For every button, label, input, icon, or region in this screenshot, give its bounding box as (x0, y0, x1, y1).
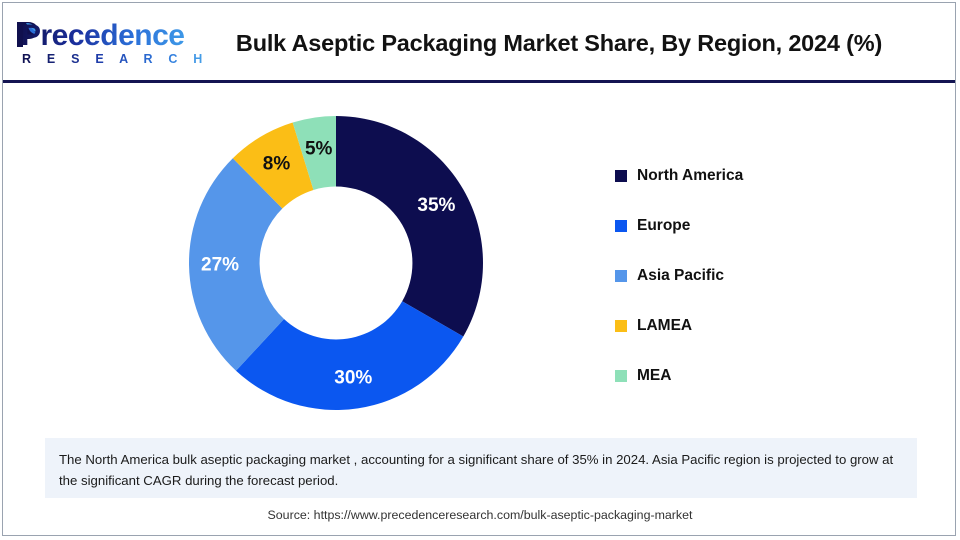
insight-note-box: The North America bulk aseptic packaging… (45, 438, 917, 498)
legend-swatch-icon (615, 320, 627, 332)
donut-slice-label: 5% (305, 138, 333, 159)
legend-swatch-icon (615, 220, 627, 232)
chart-body: 35%30%27%8%5% North AmericaEuropeAsia Pa… (3, 83, 955, 433)
legend-item-label: LAMEA (637, 317, 692, 335)
donut-slice-label: 35% (417, 195, 455, 216)
legend-item[interactable]: Europe (615, 201, 895, 251)
donut-slice-label: 8% (263, 153, 291, 174)
legend-item[interactable]: LAMEA (615, 301, 895, 351)
legend-swatch-icon (615, 370, 627, 382)
legend-item-label: Europe (637, 217, 690, 235)
legend-item[interactable]: MEA (615, 351, 895, 401)
donut-slice-label: 27% (201, 255, 239, 276)
source-line: Source: https://www.precedenceresearch.c… (3, 508, 957, 522)
logo-subtitle: R E S E A R C H (22, 52, 209, 66)
page-title: Bulk Aseptic Packaging Market Share, By … (189, 3, 929, 83)
precedence-research-logo: Precedence R E S E A R C H (15, 19, 175, 71)
donut-slice-label: 30% (334, 368, 372, 389)
legend-item[interactable]: Asia Pacific (615, 251, 895, 301)
logo-wordmark: Precedence (21, 19, 184, 53)
chart-card: Precedence R E S E A R C H Bulk Aseptic … (2, 2, 956, 536)
donut-chart-svg: 35%30%27%8%5% (189, 116, 483, 410)
legend: North AmericaEuropeAsia PacificLAMEAMEA (615, 151, 895, 401)
legend-item-label: North America (637, 167, 743, 185)
legend-swatch-icon (615, 270, 627, 282)
donut-slice[interactable] (336, 116, 483, 337)
legend-item-label: MEA (637, 367, 671, 385)
legend-item[interactable]: North America (615, 151, 895, 201)
header-bar: Precedence R E S E A R C H Bulk Aseptic … (3, 3, 955, 83)
legend-swatch-icon (615, 170, 627, 182)
insight-note-text: The North America bulk aseptic packaging… (59, 449, 903, 491)
donut-chart: 35%30%27%8%5% (189, 116, 483, 410)
legend-item-label: Asia Pacific (637, 267, 724, 285)
